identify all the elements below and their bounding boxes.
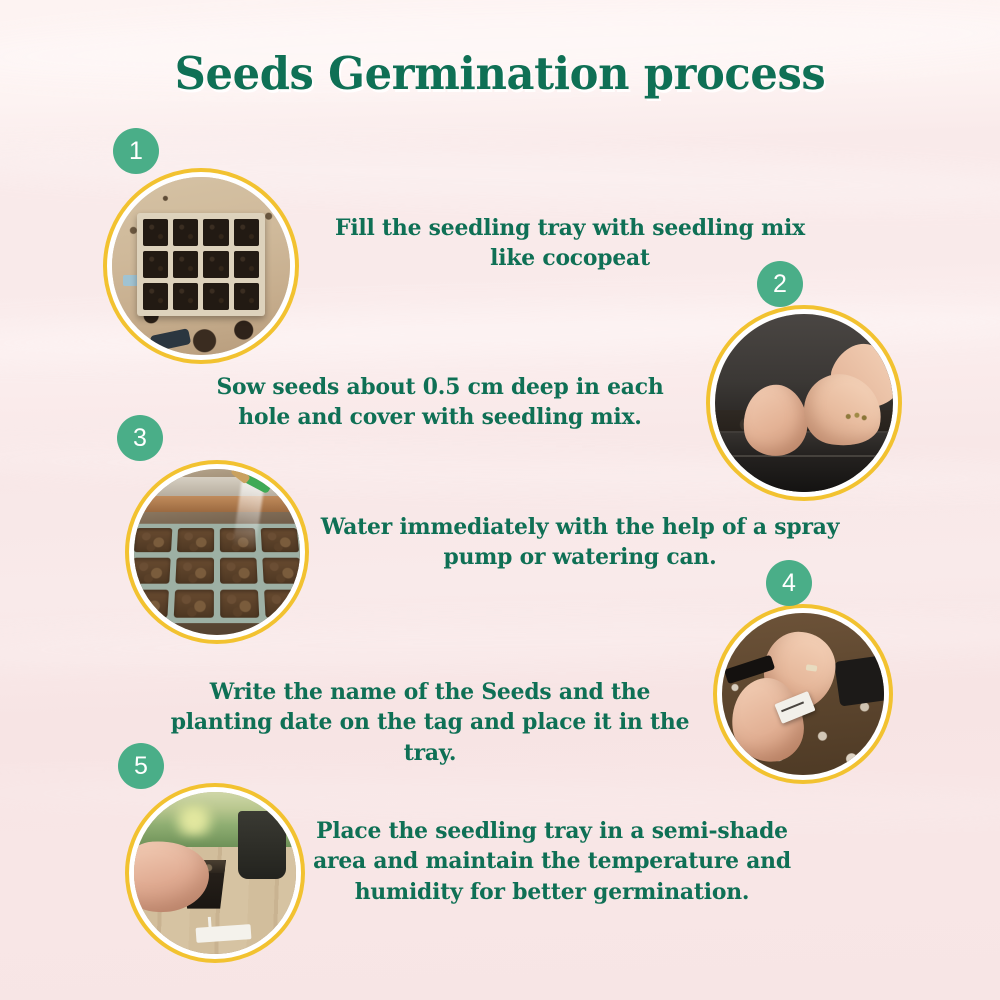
- step-text-3: Water immediately with the help of a spr…: [310, 512, 849, 573]
- tray-cell: [143, 283, 168, 310]
- tray-grid: [137, 213, 265, 316]
- soil-cell: [176, 557, 215, 583]
- soil-cell: [134, 528, 172, 552]
- tray-cell: [173, 251, 198, 278]
- step-badge-4: 4: [766, 560, 812, 606]
- black-plant-pot: [238, 811, 287, 879]
- soil-cell: [263, 557, 300, 583]
- soil-cell: [134, 557, 171, 583]
- tray-cell: [234, 219, 259, 246]
- step-text-1: Fill the seedling tray with seedling mix…: [329, 213, 810, 274]
- soil-cell: [220, 557, 259, 583]
- seeds-in-palm: [841, 410, 869, 422]
- step-photo-1: [103, 168, 299, 364]
- soil-cell: [174, 589, 214, 617]
- placing-tray-photo: [134, 792, 296, 954]
- watering-tray-photo: [134, 469, 300, 635]
- back-shelf: [134, 477, 300, 495]
- tray-cell: [203, 283, 228, 310]
- seed-tray-photo: [112, 177, 290, 355]
- soil-cell: [220, 589, 260, 617]
- soil-cell: [265, 589, 300, 617]
- tray-cell: [143, 219, 168, 246]
- soil-cell: [177, 528, 214, 552]
- sowing-seeds-photo: [715, 314, 893, 492]
- step-badge-3: 3: [117, 415, 163, 461]
- step-photo-4: [713, 604, 893, 784]
- step-photo-2: [706, 305, 902, 501]
- tray-cell: [203, 219, 228, 246]
- tray-cell: [173, 283, 198, 310]
- step-photo-3: [125, 460, 309, 644]
- step-text-5: Place the seedling tray in a semi-shade …: [310, 816, 795, 907]
- tray-cell: [173, 219, 198, 246]
- tray-cell: [203, 251, 228, 278]
- step-badge-2: 2: [757, 261, 803, 307]
- black-tray-edge: [834, 655, 884, 708]
- soil-cell: [134, 589, 169, 617]
- step-text-4: Write the name of the Seeds and the plan…: [160, 677, 699, 768]
- step-text-2: Sow seeds about 0.5 cm deep in each hole…: [199, 372, 680, 433]
- seedling-cell-grid: [134, 524, 300, 623]
- step-photo-5: [125, 783, 305, 963]
- writing-tag-photo: [722, 613, 884, 775]
- page-title: Seeds Germination process: [20, 50, 980, 99]
- soil-cell: [261, 528, 299, 552]
- step-badge-5: 5: [118, 743, 164, 789]
- tray-cell: [234, 283, 259, 310]
- tray-cell: [143, 251, 168, 278]
- wooden-rail: [134, 496, 300, 513]
- tray-cell: [234, 251, 259, 278]
- step-badge-1: 1: [113, 128, 159, 174]
